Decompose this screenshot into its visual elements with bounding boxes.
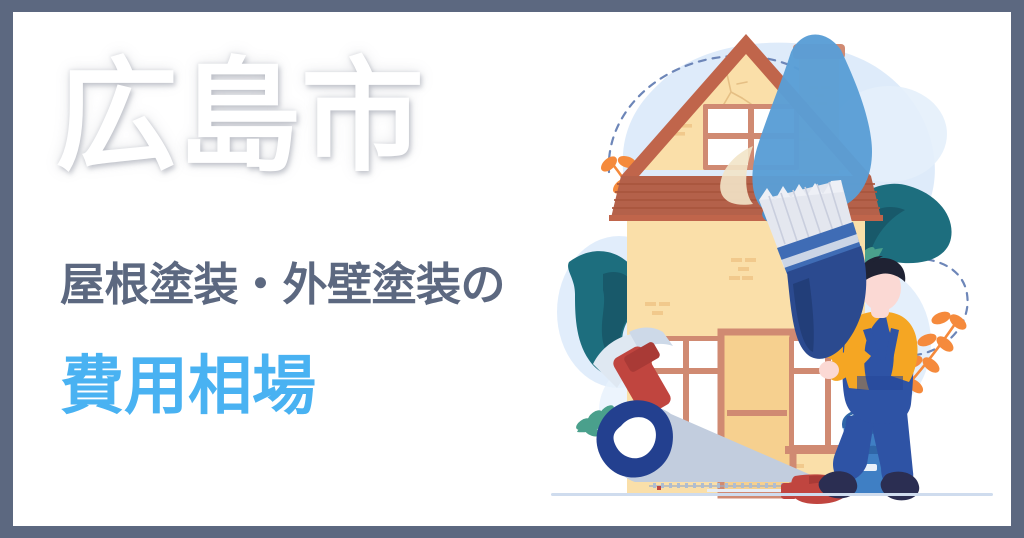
ground-line — [551, 493, 993, 496]
house-painting-illustration — [541, 12, 1011, 526]
page-title: 広島市 — [55, 56, 424, 179]
price-label: 費用相場 — [60, 352, 316, 421]
subtitle: 屋根塗装・外壁塗装の — [60, 260, 505, 310]
banner-card: 広島市 屋根塗装・外壁塗装の 費用相場 — [13, 12, 1011, 526]
banner: 広島市 屋根塗装・外壁塗装の 費用相場 — [0, 0, 1024, 538]
text-block: 広島市 屋根塗装・外壁塗装の 費用相場 — [13, 12, 633, 526]
